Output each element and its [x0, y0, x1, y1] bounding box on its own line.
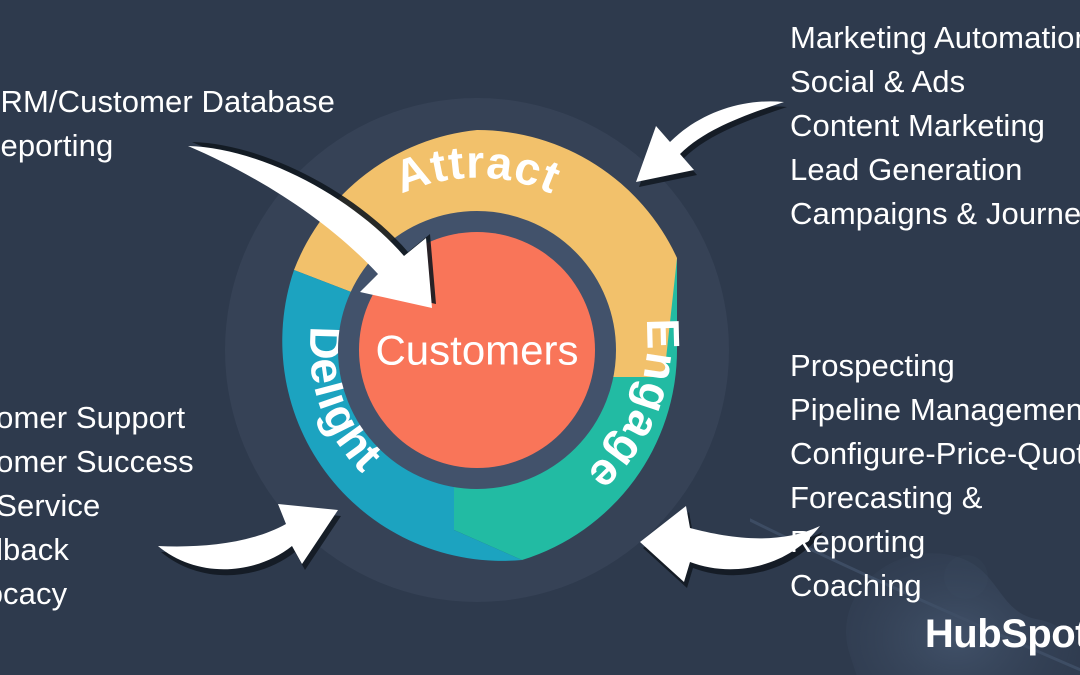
customers-label: Customers	[375, 327, 578, 374]
list-item: Reporting	[790, 520, 1080, 564]
list-item: Forecasting &	[790, 476, 1080, 520]
engage-capabilities-list: Prospecting Pipeline Management Configur…	[790, 344, 1080, 608]
list-item: Prospecting	[790, 344, 1080, 388]
flywheel-slide: Attract Engage Delight Customers	[0, 0, 1080, 675]
delight-capabilities-list: Customer Support Customer Success Self-S…	[0, 396, 194, 616]
list-item: Reporting	[0, 124, 335, 168]
list-item: Lead Generation	[790, 148, 1080, 192]
list-item: CRM/Customer Database	[0, 80, 335, 124]
list-item: Feedback	[0, 528, 194, 572]
list-item: Advocacy	[0, 572, 194, 616]
flywheel-diagram: Attract Engage Delight Customers	[222, 95, 732, 605]
list-item: Social & Ads	[790, 60, 1080, 104]
list-item: Coaching	[790, 564, 1080, 608]
list-item: Marketing Automation	[790, 16, 1080, 60]
attract-capabilities-list: Marketing Automation Social & Ads Conten…	[790, 16, 1080, 236]
list-item: Self-Service	[0, 484, 194, 528]
hubspot-logo: HubSpot	[925, 612, 1080, 657]
list-item: Customer Support	[0, 396, 194, 440]
list-item: Customer Success	[0, 440, 194, 484]
list-item: Pipeline Management	[790, 388, 1080, 432]
list-item: Configure-Price-Quote	[790, 432, 1080, 476]
data-platform-list: CRM/Customer Database Reporting	[0, 80, 335, 168]
list-item: Content Marketing	[790, 104, 1080, 148]
list-item: Campaigns & Journeys	[790, 192, 1080, 236]
